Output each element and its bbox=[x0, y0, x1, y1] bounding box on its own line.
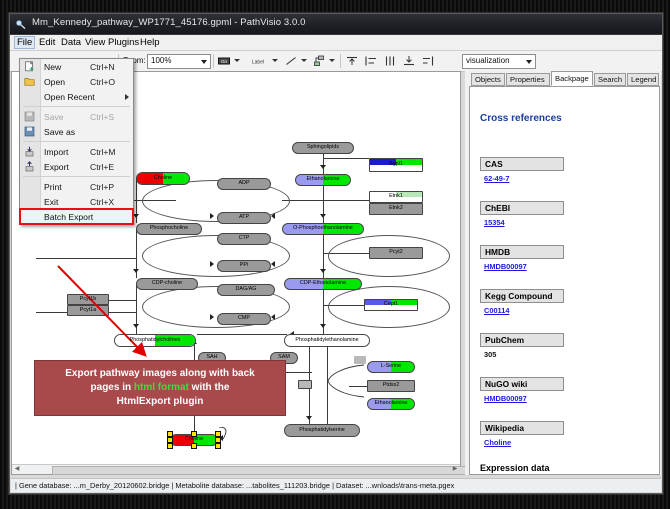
import-icon bbox=[24, 146, 35, 157]
node-label: O-Phosphoethanolamine bbox=[293, 226, 353, 231]
arrowhead-right-atp bbox=[210, 213, 214, 219]
file-menu-item-label: Print bbox=[44, 182, 62, 192]
label-tool[interactable]: Label bbox=[246, 54, 270, 68]
menu-bar[interactable]: File Edit Data View Plugins Help bbox=[10, 35, 662, 51]
export-icon bbox=[24, 161, 35, 172]
arrowhead-left-atp bbox=[271, 213, 275, 219]
canvas-horizontal-scrollbar[interactable]: ◀ ▶ bbox=[12, 464, 460, 474]
pathway-node-cmp[interactable]: CMP bbox=[217, 313, 271, 325]
selection-handle[interactable] bbox=[215, 443, 221, 449]
node-label: Sphingolipids bbox=[307, 145, 339, 150]
open-folder-icon bbox=[24, 76, 35, 87]
pathway-node-etnk2[interactable]: Etnk2 bbox=[369, 203, 423, 215]
menu-file[interactable]: File bbox=[14, 36, 35, 49]
cross-references-title: Cross references bbox=[480, 113, 562, 124]
file-menu-item-label: Export bbox=[44, 162, 69, 172]
pathway-node-phosphocholine[interactable]: Phosphocholine bbox=[136, 223, 202, 235]
pathway-node-sgpl1[interactable]: Sgpl1 bbox=[369, 158, 423, 172]
scrollbar-thumb[interactable] bbox=[52, 466, 504, 475]
edge-sgpl1-connector bbox=[323, 158, 369, 159]
file-menu-popup[interactable]: NewCtrl+NOpenCtrl+OOpen RecentSaveCtrl+S… bbox=[19, 58, 134, 225]
new-document-icon bbox=[24, 61, 35, 72]
node-label: CDP-choline bbox=[152, 281, 182, 286]
visualization-value: visualization bbox=[466, 56, 510, 65]
annotation-callout: Export pathway images along with back pa… bbox=[34, 360, 286, 416]
tab-legend[interactable]: Legend bbox=[627, 73, 659, 86]
pathway-node-choline[interactable]: Choline bbox=[136, 172, 190, 185]
side-panel-tabstrip[interactable]: Objects Properties Backpage Search Legen… bbox=[465, 71, 661, 86]
node-label: CTP bbox=[239, 236, 250, 241]
file-menu-item-accelerator: Ctrl+O bbox=[90, 77, 115, 87]
node-label: Etnk1 bbox=[389, 194, 403, 199]
xref-value[interactable]: Choline bbox=[480, 438, 564, 447]
annotation-red-arrow bbox=[52, 262, 172, 367]
menu-help[interactable]: Help bbox=[137, 37, 163, 48]
node-label: CDP-Ethanolamine bbox=[300, 281, 346, 286]
arrowhead-down-ethanolamine bbox=[320, 165, 326, 169]
node-label: Pcyt1a bbox=[80, 308, 96, 313]
serine-stub bbox=[354, 356, 366, 364]
file-menu-item-open[interactable]: OpenCtrl+O bbox=[20, 74, 133, 89]
file-menu-item-new[interactable]: NewCtrl+N bbox=[20, 59, 133, 74]
chevron-down-icon bbox=[201, 60, 207, 64]
menu-data[interactable]: Data bbox=[58, 37, 84, 48]
align-middle-icon[interactable] bbox=[402, 54, 416, 68]
pathway-node-pcyt2[interactable]: Pcyt2 bbox=[369, 247, 423, 259]
callout-line-3: HtmlExport plugin bbox=[65, 395, 255, 409]
edge-etnk-connector bbox=[323, 200, 369, 201]
align-top-icon[interactable] bbox=[345, 54, 359, 68]
pathvisio-app-icon bbox=[15, 18, 27, 30]
interaction-tool-chevron-icon[interactable] bbox=[329, 59, 335, 62]
node-label: CMP bbox=[238, 316, 250, 321]
pathway-node-etnk1[interactable]: Etnk1 bbox=[369, 191, 423, 203]
arrowhead-down-ptdserine bbox=[306, 416, 312, 420]
node-label: SAH bbox=[206, 355, 217, 360]
node-label: Phosphocholine bbox=[150, 226, 188, 231]
file-menu-item-label: Exit bbox=[44, 197, 58, 207]
file-menu-item-label: Open Recent bbox=[44, 92, 95, 102]
node-label: ATP bbox=[239, 215, 249, 220]
pathway-node-adp[interactable]: ADP bbox=[217, 178, 271, 190]
edge-chpt-line bbox=[36, 258, 136, 259]
zoom-value: 100% bbox=[151, 56, 171, 65]
xref-entry-kegg-compound: Kegg CompoundC00114 bbox=[480, 289, 564, 315]
xref-value: 305 bbox=[480, 350, 564, 359]
scroll-right-arrow-icon[interactable]: ▶ bbox=[451, 466, 459, 473]
svg-text:Gn: Gn bbox=[221, 59, 228, 64]
arrowhead-down-ophospho bbox=[320, 214, 326, 218]
xref-value[interactable]: C00114 bbox=[480, 306, 564, 315]
file-menu-item-accelerator: Ctrl+E bbox=[90, 162, 114, 172]
arrowhead-right-ppi bbox=[210, 261, 214, 267]
arrowhead-down-cdpetn bbox=[320, 269, 326, 273]
menu-separator bbox=[23, 106, 130, 107]
application-window: Mm_Kennedy_pathway_WP1771_45176.gpml - P… bbox=[9, 13, 663, 494]
callout-line-1: Export pathway images along with back bbox=[65, 367, 255, 381]
node-label: DAG/AG bbox=[236, 287, 257, 292]
xref-database-name: NuGO wiki bbox=[480, 377, 564, 391]
pathway-node-phosphatidylethanolamine[interactable]: Phosphatidylethanolamine bbox=[284, 334, 370, 347]
file-menu-item-save: SaveCtrl+S bbox=[20, 109, 133, 124]
pathway-node-sphingolipids[interactable]: Sphingolipids bbox=[292, 142, 354, 154]
serine-exchange-curves bbox=[312, 357, 372, 407]
pathway-node-l-serine[interactable]: L-Serine bbox=[367, 361, 415, 373]
node-label: Sgpl1 bbox=[389, 162, 403, 167]
xref-value[interactable]: HMDB00097 bbox=[480, 262, 564, 271]
side-panel[interactable]: Objects Properties Backpage Search Legen… bbox=[465, 71, 661, 475]
callout-line-2: pages in html format with the bbox=[65, 381, 255, 395]
gene-tool-chevron-icon[interactable] bbox=[234, 59, 240, 62]
save-disk-icon bbox=[24, 111, 35, 122]
file-menu-item-label: Save bbox=[44, 112, 64, 122]
pathway-node-cdp-ethanolamine[interactable]: CDP-Ethanolamine bbox=[284, 278, 362, 290]
file-menu-item-label: Open bbox=[44, 77, 65, 87]
arrowhead-down-ptdetn bbox=[320, 324, 326, 328]
file-menu-item-accelerator: Ctrl+M bbox=[90, 147, 116, 157]
edge-pemt-dashed bbox=[197, 334, 287, 335]
pathway-node-cept1[interactable]: Cept1 bbox=[364, 299, 418, 311]
align-left-icon[interactable] bbox=[364, 54, 378, 68]
pathway-node-dag-ag[interactable]: DAG/AG bbox=[217, 284, 275, 296]
file-menu-item-save-as[interactable]: Save as bbox=[20, 124, 133, 139]
node-label: L-Serine bbox=[381, 364, 401, 369]
align-center-icon[interactable] bbox=[383, 54, 397, 68]
pathway-node-atp[interactable]: ATP bbox=[217, 212, 271, 224]
callout-highlight: html format bbox=[134, 382, 189, 393]
node-label: Ethanolamine bbox=[375, 401, 408, 406]
file-menu-item-export[interactable]: ExportCtrl+E bbox=[20, 159, 133, 174]
file-menu-item-print[interactable]: PrintCtrl+P bbox=[20, 179, 133, 194]
file-menu-item-label: Import bbox=[44, 147, 68, 157]
tab-search[interactable]: Search bbox=[594, 73, 626, 86]
zoom-combobox[interactable]: 100% bbox=[147, 54, 211, 69]
node-label: Pcyt1b bbox=[80, 297, 96, 302]
xref-value[interactable]: HMDB00097 bbox=[480, 394, 564, 403]
pathway-node-o-phosphoethanolamine[interactable]: O-Phosphoethanolamine bbox=[282, 223, 364, 235]
file-menu-item-accelerator: Ctrl+P bbox=[90, 182, 114, 192]
file-menu-item-label: New bbox=[44, 62, 61, 72]
node-label: ADP bbox=[238, 181, 249, 186]
xref-value[interactable]: 15354 bbox=[480, 218, 564, 227]
node-label: Etnk2 bbox=[389, 206, 403, 211]
xref-entry-chebi: ChEBI15354 bbox=[480, 201, 564, 227]
xref-database-name: Wikipedia bbox=[480, 421, 564, 435]
file-menu-item-label: Save as bbox=[44, 127, 75, 137]
selection-handle[interactable] bbox=[167, 443, 173, 449]
pathway-node-ctp[interactable]: CTP bbox=[217, 233, 271, 245]
menu-edit[interactable]: Edit bbox=[36, 37, 58, 48]
line-tool[interactable] bbox=[284, 54, 298, 68]
pathway-node-ethanolamine[interactable]: Ethanolamine bbox=[295, 174, 351, 186]
node-label: Ethanolamine bbox=[307, 177, 340, 182]
pathway-node-ppi[interactable]: PPi bbox=[217, 260, 271, 272]
callout-line-2-pre: pages in bbox=[91, 382, 134, 393]
menu-separator bbox=[23, 141, 130, 142]
menu-separator bbox=[23, 176, 130, 177]
gene-product-tool[interactable]: Gn bbox=[217, 54, 231, 68]
arrowhead-left-ppi bbox=[271, 261, 275, 267]
file-menu-item-accelerator: Ctrl+S bbox=[90, 112, 114, 122]
node-label: Phosphatidylethanolamine bbox=[295, 338, 358, 343]
window-title: Mm_Kennedy_pathway_WP1771_45176.gpml - P… bbox=[32, 17, 306, 28]
node-label: PPi bbox=[240, 263, 248, 268]
xref-database-name: PubChem bbox=[480, 333, 564, 347]
tab-properties[interactable]: Properties bbox=[506, 73, 550, 86]
xref-database-name: HMDB bbox=[480, 245, 564, 259]
title-bar: Mm_Kennedy_pathway_WP1771_45176.gpml - P… bbox=[10, 14, 662, 35]
node-label: Choline bbox=[154, 176, 172, 181]
node-label: SAM bbox=[278, 355, 290, 360]
node-label: Pcyt2 bbox=[389, 250, 402, 255]
status-bar: | Gene database: ...m_Derby_20120602.bri… bbox=[11, 478, 661, 492]
node-label: Phosphatidylserine bbox=[299, 428, 345, 433]
xref-database-name: ChEBI bbox=[480, 201, 564, 215]
visualization-combobox[interactable]: visualization bbox=[462, 54, 536, 69]
node-label: Ptdss2 bbox=[383, 383, 399, 388]
pemt-stub[interactable] bbox=[298, 380, 312, 389]
xref-entry-cas: CAS62-49-7 bbox=[480, 157, 564, 183]
xref-value[interactable]: 62-49-7 bbox=[480, 174, 564, 183]
tab-objects[interactable]: Objects bbox=[471, 73, 505, 86]
submenu-arrow-icon bbox=[125, 94, 129, 100]
arrowhead-right-cmp bbox=[210, 314, 214, 320]
chevron-down-icon bbox=[526, 60, 532, 64]
pathway-node-ethanolamine[interactable]: Ethanolamine bbox=[367, 398, 415, 410]
pathway-node-ptdss2[interactable]: Ptdss2 bbox=[367, 380, 415, 392]
svg-text:Label: Label bbox=[252, 60, 264, 66]
backpage-content[interactable]: Cross references CAS62-49-7ChEBI15354HMD… bbox=[469, 86, 660, 475]
tab-backpage[interactable]: Backpage bbox=[551, 71, 593, 86]
label-tool-chevron-icon[interactable] bbox=[272, 59, 278, 62]
file-menu-item-accelerator: Ctrl+X bbox=[90, 197, 114, 207]
arrowhead-left-cmp bbox=[271, 314, 275, 320]
node-label: Choline bbox=[185, 437, 203, 442]
file-menu-item-batch-export[interactable]: Batch Export bbox=[20, 209, 133, 224]
line-tool-chevron-icon[interactable] bbox=[301, 59, 307, 62]
xref-database-name: CAS bbox=[480, 157, 564, 171]
file-menu-item-accelerator: Ctrl+N bbox=[90, 62, 115, 72]
callout-line-2-post: with the bbox=[189, 382, 230, 393]
pathway-node-phosphatidylserine[interactable]: Phosphatidylserine bbox=[284, 424, 360, 437]
expression-data-title: Expression data bbox=[480, 463, 550, 473]
xref-entry-wikipedia: WikipediaCholine bbox=[480, 421, 564, 447]
node-label: Cept1 bbox=[384, 302, 398, 307]
scroll-left-arrow-icon[interactable]: ◀ bbox=[13, 466, 21, 473]
file-menu-item-label: Batch Export bbox=[44, 212, 93, 222]
save-as-icon bbox=[24, 126, 35, 137]
file-menu-item-exit[interactable]: ExitCtrl+X bbox=[20, 194, 133, 209]
file-menu-item-import[interactable]: ImportCtrl+M bbox=[20, 144, 133, 159]
file-menu-item-open-recent[interactable]: Open Recent bbox=[20, 89, 133, 104]
xref-database-name: Kegg Compound bbox=[480, 289, 564, 303]
selection-handle[interactable] bbox=[191, 443, 197, 449]
xref-entry-hmdb: HMDBHMDB00097 bbox=[480, 245, 564, 271]
align-right-icon[interactable] bbox=[421, 54, 435, 68]
interaction-tool[interactable] bbox=[312, 54, 326, 68]
xref-entry-pubchem: PubChem305 bbox=[480, 333, 564, 359]
node-label: Phosphatidylcholines bbox=[130, 338, 181, 343]
xref-entry-nugo-wiki: NuGO wikiHMDB00097 bbox=[480, 377, 564, 403]
